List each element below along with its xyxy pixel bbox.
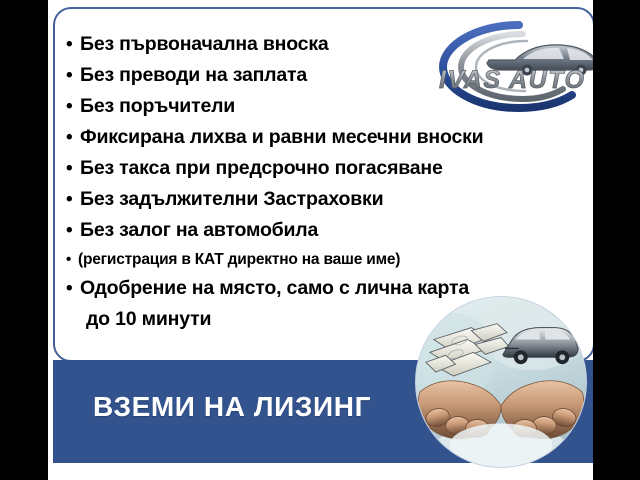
bullet-icon: • [66, 91, 72, 122]
hands-holding-money-and-car-photo [415, 296, 587, 468]
bullet-icon: • [66, 184, 72, 215]
list-item-label: Одобрение на място, само с лична карта [80, 277, 469, 299]
list-item-label: Без първоначална вноска [80, 33, 329, 55]
bullet-icon: • [66, 60, 72, 91]
bullet-icon: • [66, 153, 72, 184]
list-item-note: • (регистрация в КАТ директно на ваше им… [65, 246, 593, 273]
ivas-auto-logo: IVAS AUTO [431, 20, 593, 112]
list-item: • Без такса при предсрочно погасяване [65, 153, 593, 184]
bullet-icon: • [66, 29, 72, 60]
bullet-icon: • [66, 122, 72, 153]
list-item: • Без залог на автомобила [65, 215, 593, 246]
list-item-label: Без преводи на заплата [80, 64, 307, 86]
list-item-label: Без задължителни Застраховки [80, 188, 383, 210]
letterbox-bar-right [593, 0, 640, 480]
list-item-label: Без такса при предсрочно погасяване [80, 157, 443, 179]
bullet-icon: • [66, 246, 71, 273]
logo-wordmark: IVAS AUTO [439, 66, 585, 94]
slide-stage: • Без първоначална вноска • Без преводи … [0, 0, 640, 480]
advertisement-slide: • Без първоначална вноска • Без преводи … [48, 0, 593, 480]
list-item: • Без задължителни Застраховки [65, 184, 593, 215]
list-item: • Фиксирана лихва и равни месечни вноски [65, 122, 593, 153]
bullet-icon: • [66, 273, 72, 304]
list-item-label: Без поръчители [80, 95, 235, 117]
list-item-label: (регистрация в КАТ директно на ваше име) [78, 251, 400, 268]
letterbox-bar-left [0, 0, 48, 480]
list-item-label: Фиксирана лихва и равни месечни вноски [80, 126, 483, 148]
list-item-label: Без залог на автомобила [80, 219, 318, 241]
bullet-icon: • [66, 215, 72, 246]
cta-label: ВЗЕМИ НА ЛИЗИНГ [93, 391, 371, 423]
